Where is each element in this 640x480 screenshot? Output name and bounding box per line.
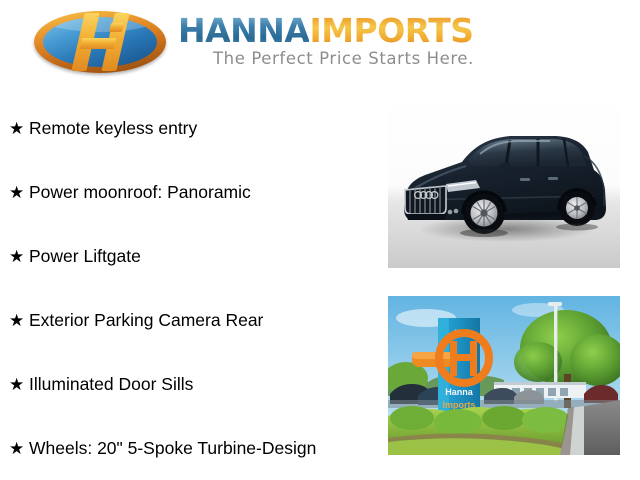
wordmark-imports: IMPORTS <box>309 11 473 50</box>
wordmark-hanna: HANNA <box>178 11 309 50</box>
star-bullet-icon: ★ <box>9 312 29 329</box>
list-item: ★ Illuminated Door Sills <box>0 352 380 416</box>
feature-label: Illuminated Door Sills <box>29 374 193 394</box>
list-item: ★ Power Liftgate <box>0 224 380 288</box>
star-bullet-icon: ★ <box>9 184 29 201</box>
hanna-oval-h-logo-icon <box>34 11 166 73</box>
vehicle-photo-artwork <box>388 96 620 268</box>
dealership-exterior-photo: 280 Hanna Imports <box>388 296 620 455</box>
brand-header: HANNAIMPORTS The Perfect Price Starts He… <box>0 0 640 88</box>
svg-text:Hanna: Hanna <box>445 387 474 397</box>
vehicle-exterior-photo <box>388 96 620 268</box>
brand-tagline: The Perfect Price Starts Here. <box>213 49 474 68</box>
star-bullet-icon: ★ <box>9 376 29 393</box>
list-item: ★ Wheels: 20" 5-Spoke Turbine-Design <box>0 416 380 480</box>
feature-label: Remote keyless entry <box>29 118 197 138</box>
feature-label: Wheels: 20" 5-Spoke Turbine-Design <box>29 438 316 458</box>
vehicle-feature-list: ★ Remote keyless entry ★ Power moonroof:… <box>0 96 380 480</box>
brand-wordmark: HANNAIMPORTS <box>178 14 474 50</box>
logo-h-accent <box>109 23 124 32</box>
feature-label: Power moonroof: Panoramic <box>29 182 251 202</box>
logo-h-crossbar <box>80 38 117 49</box>
dealership-photo-artwork: 280 Hanna Imports <box>388 296 620 455</box>
feature-label: Exterior Parking Camera Rear <box>29 310 263 330</box>
star-bullet-icon: ★ <box>9 248 29 265</box>
star-bullet-icon: ★ <box>9 440 29 457</box>
feature-label: Power Liftgate <box>29 246 141 266</box>
list-item: ★ Exterior Parking Camera Rear <box>0 288 380 352</box>
list-item: ★ Remote keyless entry <box>0 96 380 160</box>
star-bullet-icon: ★ <box>9 120 29 137</box>
list-item: ★ Power moonroof: Panoramic <box>0 160 380 224</box>
